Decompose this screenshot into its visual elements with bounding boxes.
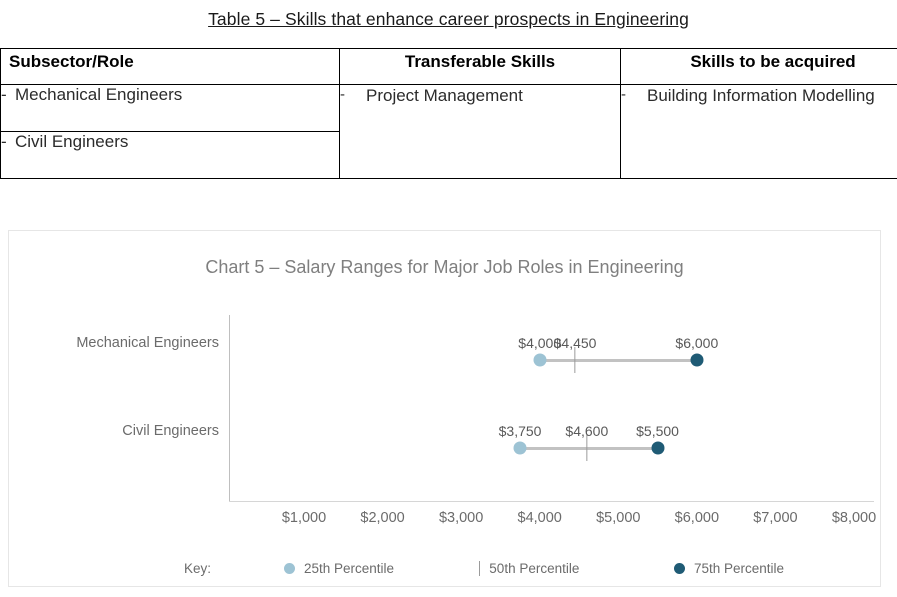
bullet-dash: - — [621, 85, 647, 105]
legend-item-label: 25th Percentile — [304, 561, 394, 576]
transferable-skills-text: Project Management — [366, 85, 523, 108]
circle-marker-icon — [284, 563, 295, 574]
cell-skills-to-be-acquired: - Building Information Modelling — [621, 85, 897, 179]
table-title: Table 5 – Skills that enhance career pro… — [0, 0, 897, 30]
data-point-25th-percentile[interactable] — [533, 354, 546, 367]
data-point-value-label: $3,750 — [499, 423, 542, 439]
x-axis-tick-label: $6,000 — [675, 510, 719, 526]
x-axis-tick-label: $1,000 — [282, 510, 326, 526]
skills-table: Subsector/Role Transferable Skills Skill… — [0, 48, 897, 179]
x-axis-tick-label: $8,000 — [832, 510, 876, 526]
cell-transferable-skills: - Project Management — [340, 85, 621, 179]
legend-item-75th-percentile[interactable]: 75th Percentile — [674, 561, 784, 576]
role-label: Civil Engineers — [15, 132, 128, 151]
y-axis-line — [229, 315, 230, 501]
legend-item-label: 75th Percentile — [694, 561, 784, 576]
x-axis-tick-label: $7,000 — [753, 510, 797, 526]
legend-item-50th-percentile[interactable]: 50th Percentile — [479, 561, 579, 576]
x-axis-tick-label: $4,000 — [518, 510, 562, 526]
data-point-75th-percentile[interactable] — [690, 354, 703, 367]
cell-role-mechanical-engineers: -Mechanical Engineers — [1, 85, 340, 132]
skills-to-acquire-text: Building Information Modelling — [647, 85, 875, 108]
bullet-dash: - — [340, 85, 366, 105]
x-axis-line — [229, 501, 874, 502]
x-axis-tick-label: $3,000 — [439, 510, 483, 526]
circle-marker-icon — [674, 563, 685, 574]
legend-title: Key: — [184, 561, 211, 576]
data-point-value-label: $6,000 — [675, 335, 718, 351]
cell-role-civil-engineers: -Civil Engineers — [1, 132, 340, 179]
column-header-skills-to-be-acquired: Skills to be acquired — [621, 49, 897, 85]
category-label-civil-engineers: Civil Engineers — [122, 423, 219, 439]
data-point-75th-percentile[interactable] — [651, 442, 664, 455]
range-connector-line — [520, 447, 658, 450]
legend-item-25th-percentile[interactable]: 25th Percentile — [284, 561, 394, 576]
role-label: Mechanical Engineers — [15, 85, 182, 104]
table-row: -Mechanical Engineers - Project Manageme… — [1, 85, 897, 132]
chart-card: Chart 5 – Salary Ranges for Major Job Ro… — [8, 230, 881, 587]
data-point-value-label: $4,600 — [565, 423, 608, 439]
chart-plot-area: Mechanical Engineers Civil Engineers $4,… — [9, 231, 882, 588]
x-axis-tick-label: $2,000 — [360, 510, 404, 526]
legend-item-label: 50th Percentile — [489, 561, 579, 576]
table-header-row: Subsector/Role Transferable Skills Skill… — [1, 49, 897, 85]
category-label-mechanical-engineers: Mechanical Engineers — [76, 335, 219, 351]
data-point-25th-percentile[interactable] — [514, 442, 527, 455]
tick-marker-icon — [479, 561, 480, 576]
x-axis-tick-label: $5,000 — [596, 510, 640, 526]
column-header-transferable-skills: Transferable Skills — [340, 49, 621, 85]
column-header-subsector-role: Subsector/Role — [1, 49, 340, 85]
chart-legend: Key: 25th Percentile 50th Percentile 75t… — [9, 561, 882, 581]
data-point-value-label: $4,450 — [554, 335, 597, 351]
bullet-dash: - — [1, 85, 15, 105]
bullet-dash: - — [1, 132, 15, 152]
range-connector-line — [540, 359, 697, 362]
data-point-value-label: $5,500 — [636, 423, 679, 439]
